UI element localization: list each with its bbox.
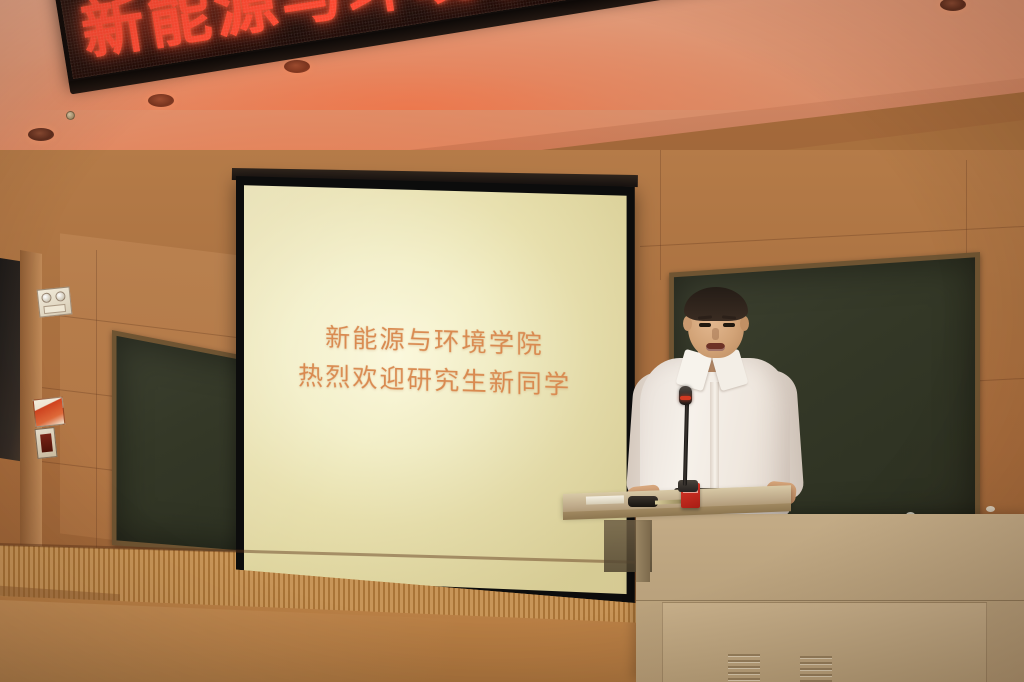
lecture-hall-photo: 新能源与环境学院 热烈欢迎研究生新同学 新能源与环境学院2018级研究生入学教育… <box>0 0 1024 682</box>
wall-seam <box>96 250 97 550</box>
microphone-indicator-ring <box>680 396 691 400</box>
console-lock-icon[interactable] <box>66 111 75 120</box>
projection-screen-text: 新能源与环境学院 热烈欢迎研究生新同学 <box>244 315 627 407</box>
outlet-slot-icon <box>43 304 66 314</box>
outlet-knob-icon <box>41 292 52 303</box>
dark-remote-object[interactable] <box>628 496 658 507</box>
presenter-nose <box>712 328 719 340</box>
chalk-piece <box>986 506 995 512</box>
projection-screen-frame: 新能源与环境学院 热烈欢迎研究生新同学 <box>236 176 635 605</box>
projection-screen-surface: 新能源与环境学院 热烈欢迎研究生新同学 <box>244 185 627 594</box>
ceiling-downlight-icon <box>28 128 54 141</box>
console-vent-grille <box>800 656 832 682</box>
lectern-support-post <box>636 520 650 582</box>
presenter-mouth <box>706 343 725 351</box>
presenter-hair <box>684 287 748 321</box>
console-seam <box>636 600 1024 601</box>
presenter <box>618 290 808 515</box>
wall-seam <box>660 150 661 280</box>
wall-outlet-plate[interactable] <box>37 286 73 317</box>
presenter-eye-right <box>723 323 735 327</box>
safety-notice-sticker <box>33 397 66 428</box>
fire-alarm-pull-station[interactable] <box>34 427 57 459</box>
microphone-base <box>678 480 698 492</box>
outlet-knob-icon <box>55 291 66 302</box>
presenter-eye-left <box>699 323 711 327</box>
presenter-shirt-placket <box>710 382 719 502</box>
console-vent-grille <box>728 654 760 682</box>
paper-sheet <box>586 495 624 504</box>
av-console-cabinet <box>636 514 1024 682</box>
